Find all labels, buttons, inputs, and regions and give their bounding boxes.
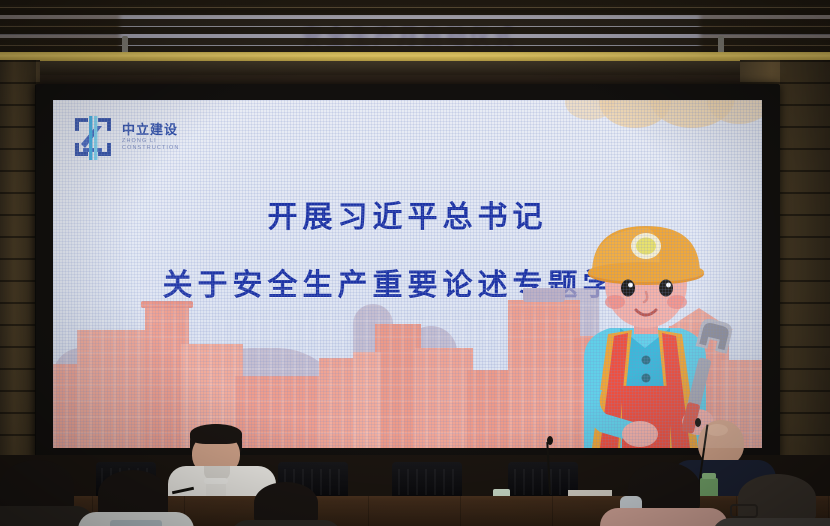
torso <box>230 520 342 526</box>
company-logo: 中立建设 ZHONG LI CONSTRUCTION <box>71 114 180 160</box>
hair <box>98 470 168 518</box>
hair <box>0 460 74 512</box>
microphone-head <box>547 436 553 445</box>
mascot-construction-worker <box>548 208 744 448</box>
logo-mark-icon <box>71 114 115 160</box>
person-attendee-3 <box>238 482 334 526</box>
person-attendee-2 <box>84 470 188 526</box>
ceiling-shadow-band <box>0 61 830 75</box>
logo-company-name-en-line1: ZHONG LI <box>122 139 180 145</box>
logo-company-name-cn: 中立建设 <box>122 123 180 136</box>
teacup-lid <box>204 478 228 484</box>
torso <box>600 508 728 526</box>
ceiling-trim-strip <box>0 52 830 61</box>
logo-company-name-en-line2: CONSTRUCTION <box>122 146 180 152</box>
chair <box>392 462 462 500</box>
microphone-head <box>695 418 701 427</box>
shirt-panel <box>110 520 162 526</box>
person-attendee-4 <box>610 462 718 526</box>
conference-hall-scene: 安全生产月启动仪式 <box>0 0 830 526</box>
torso <box>712 518 830 526</box>
person-attendee-5 <box>724 474 830 526</box>
eyeglasses <box>730 504 758 518</box>
led-screen: 中立建设 ZHONG LI CONSTRUCTION 开展习近平总书记 关于安全… <box>53 100 762 448</box>
logo-text-block: 中立建设 ZHONG LI CONSTRUCTION <box>122 123 180 152</box>
led-screen-frame: 中立建设 ZHONG LI CONSTRUCTION 开展习近平总书记 关于安全… <box>35 84 780 462</box>
hair <box>254 482 318 524</box>
person-attendee-1 <box>0 460 84 526</box>
hair-top <box>190 424 242 444</box>
bald-shine <box>706 424 728 436</box>
